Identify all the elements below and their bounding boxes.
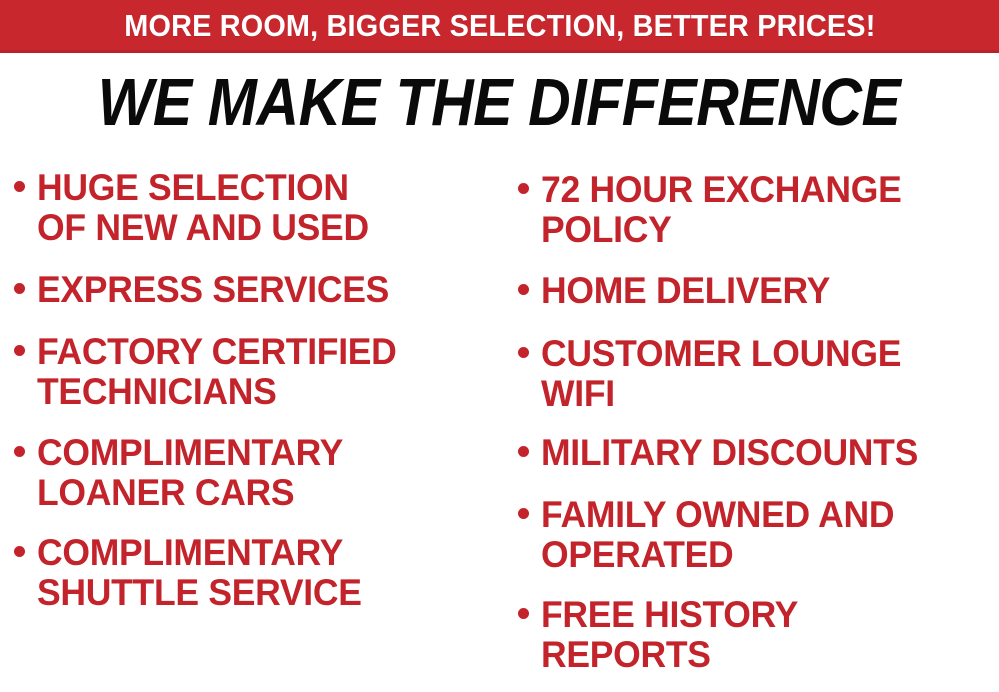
bullet-dot-icon (518, 183, 529, 194)
list-item-label: 72 HOUR EXCHANGE POLICY (541, 170, 902, 250)
list-item: HUGE SELECTION OF NEW AND USED (14, 168, 484, 248)
list-item-label: FREE HISTORY REPORTS (541, 595, 798, 675)
list-item-label: CUSTOMER LOUNGE WIFI (541, 334, 901, 414)
list-item-label: COMPLIMENTARY LOANER CARS (37, 433, 343, 513)
bullet-dot-icon (518, 284, 529, 295)
list-item-label: HUGE SELECTION OF NEW AND USED (37, 168, 369, 248)
list-item-label: FACTORY CERTIFIED TECHNICIANS (37, 332, 397, 412)
promotional-banner: MORE ROOM, BIGGER SELECTION, BETTER PRIC… (0, 0, 999, 692)
promo-strip-text: MORE ROOM, BIGGER SELECTION, BETTER PRIC… (124, 10, 875, 41)
list-item: COMPLIMENTARY SHUTTLE SERVICE (14, 533, 484, 613)
list-item-label: FAMILY OWNED AND OPERATED (541, 495, 894, 575)
headline-container: WE MAKE THE DIFFERENCE (0, 62, 999, 142)
bullet-dot-icon (14, 446, 25, 457)
list-item-label: COMPLIMENTARY SHUTTLE SERVICE (37, 533, 362, 613)
list-item: COMPLIMENTARY LOANER CARS (14, 433, 484, 513)
bullet-dot-icon (518, 508, 529, 519)
bullet-dot-icon (518, 608, 529, 619)
bullet-dot-icon (518, 446, 529, 457)
list-item: CUSTOMER LOUNGE WIFI (518, 334, 998, 414)
list-item-label: HOME DELIVERY (541, 271, 830, 311)
list-item: MILITARY DISCOUNTS (518, 433, 999, 473)
bullet-dot-icon (14, 181, 25, 192)
list-item: EXPRESS SERVICES (14, 270, 484, 310)
list-item: 72 HOUR EXCHANGE POLICY (518, 170, 998, 250)
feature-columns: HUGE SELECTION OF NEW AND USED EXPRESS S… (0, 150, 999, 692)
list-item: FREE HISTORY REPORTS (518, 595, 998, 675)
list-item: FACTORY CERTIFIED TECHNICIANS (14, 332, 484, 412)
bullet-dot-icon (14, 283, 25, 294)
list-item: FAMILY OWNED AND OPERATED (518, 495, 998, 575)
bullet-dot-icon (14, 345, 25, 356)
list-item-label: EXPRESS SERVICES (37, 270, 389, 310)
promo-strip: MORE ROOM, BIGGER SELECTION, BETTER PRIC… (0, 0, 999, 53)
list-item-label: MILITARY DISCOUNTS (541, 433, 918, 473)
page-title: WE MAKE THE DIFFERENCE (98, 69, 901, 136)
list-item: HOME DELIVERY (518, 271, 998, 311)
bullet-dot-icon (14, 546, 25, 557)
bullet-dot-icon (518, 347, 529, 358)
